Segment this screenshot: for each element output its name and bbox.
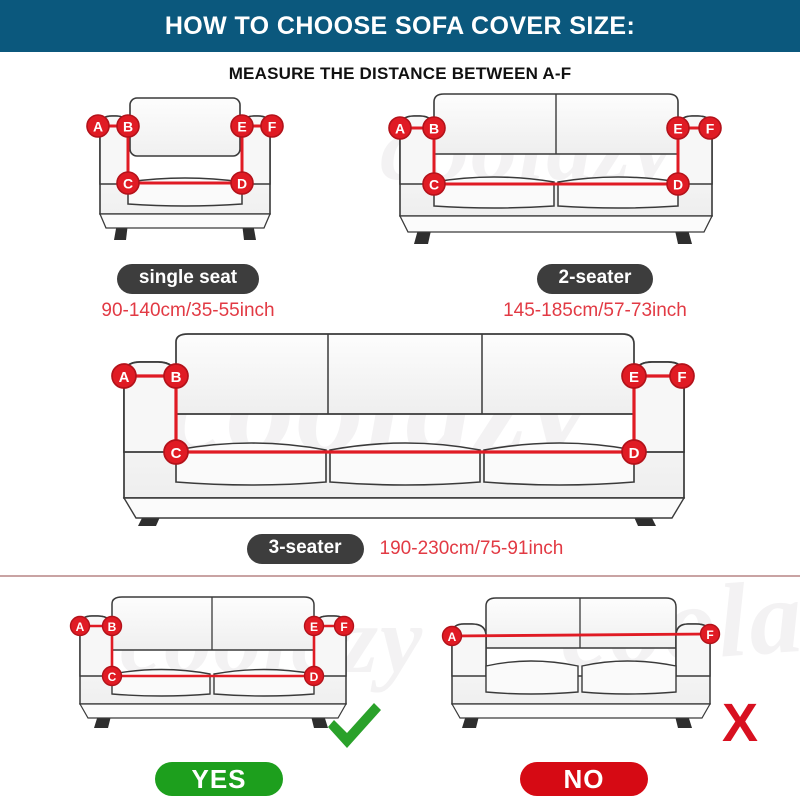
svg-text:A: A	[93, 119, 103, 135]
sofa-backrest	[486, 598, 676, 648]
marker-e: E	[667, 117, 689, 139]
sofa-seat-cushion	[112, 670, 210, 697]
diagram-three-seater: A B C D E	[100, 330, 710, 535]
svg-text:E: E	[310, 620, 318, 634]
sofa-seat-cushion	[484, 443, 634, 485]
svg-text:F: F	[677, 369, 686, 386]
marker-f: F	[670, 364, 694, 388]
x-mark-icon: X	[722, 696, 758, 750]
sofa-base	[80, 704, 346, 718]
marker-b: B	[117, 115, 139, 137]
marker-a: A	[87, 115, 109, 137]
two-seater-illustration: A B C D E	[382, 88, 732, 263]
svg-text:C: C	[171, 445, 182, 462]
caption-three-seater: 3-seater 190-230cm/75-91inch	[170, 534, 640, 564]
marker-a: A	[71, 617, 90, 636]
marker-d: D	[305, 667, 324, 686]
check-mark-icon	[324, 700, 384, 752]
sofa-seat-cushion	[330, 443, 480, 485]
diagram-yes-example: A B C D E	[62, 592, 362, 742]
marker-f: F	[701, 625, 720, 644]
marker-e: E	[231, 115, 253, 137]
svg-text:B: B	[108, 620, 117, 634]
marker-a: A	[389, 117, 411, 139]
sofa-seat-cushion	[214, 670, 314, 697]
section-divider	[0, 575, 800, 577]
svg-text:F: F	[340, 620, 347, 634]
svg-text:A: A	[448, 630, 457, 644]
marker-c: C	[103, 667, 122, 686]
marker-c: C	[164, 440, 188, 464]
svg-text:C: C	[123, 176, 133, 192]
caption-single-seat: single seat 90-140cm/35-55inch	[48, 264, 328, 322]
sofa-seat-cushion	[486, 661, 578, 694]
svg-text:F: F	[706, 628, 713, 642]
svg-text:B: B	[429, 121, 439, 137]
sofa-seat-cushion	[176, 443, 326, 485]
badge-three-seater: 3-seater	[247, 534, 364, 564]
svg-text:B: B	[123, 119, 133, 135]
no-sofa-illustration: A F	[430, 592, 730, 742]
marker-b: B	[423, 117, 445, 139]
header-bar: HOW TO CHOOSE SOFA COVER SIZE:	[0, 0, 800, 52]
marker-e: E	[622, 364, 646, 388]
marker-c: C	[423, 173, 445, 195]
subtitle: MEASURE THE DISTANCE BETWEEN A-F	[0, 64, 800, 84]
marker-f: F	[261, 115, 283, 137]
sofa-base	[124, 498, 684, 518]
svg-text:D: D	[673, 177, 683, 193]
svg-text:C: C	[108, 670, 117, 684]
sofa-base	[400, 216, 712, 232]
svg-text:B: B	[171, 369, 182, 386]
svg-text:F: F	[706, 121, 715, 137]
three-seater-illustration: A B C D E	[100, 330, 710, 535]
svg-text:E: E	[629, 369, 639, 386]
dimensions-three-seater: 190-230cm/75-91inch	[380, 538, 564, 560]
svg-text:E: E	[673, 121, 682, 137]
sofa-seat-cushion	[558, 177, 678, 208]
sofa-seat-cushion	[582, 661, 676, 694]
caption-two-seater: 2-seater 145-185cm/57-73inch	[430, 264, 760, 322]
dimensions-single-seat: 90-140cm/35-55inch	[48, 300, 328, 322]
marker-d: D	[231, 172, 253, 194]
sofa-backrest	[176, 334, 634, 414]
diagram-single-seat: A B C D E	[78, 88, 293, 263]
diagram-two-seater: A B C D E	[382, 88, 732, 263]
svg-text:D: D	[629, 445, 640, 462]
page-title: HOW TO CHOOSE SOFA COVER SIZE:	[165, 12, 635, 41]
marker-c: C	[117, 172, 139, 194]
svg-text:E: E	[237, 119, 246, 135]
svg-text:A: A	[119, 369, 130, 386]
marker-f: F	[699, 117, 721, 139]
infographic-page: HOW TO CHOOSE SOFA COVER SIZE: MEASURE T…	[0, 0, 800, 800]
diagram-no-example: A F	[430, 592, 730, 742]
marker-d: D	[622, 440, 646, 464]
measurement-lines	[452, 634, 710, 636]
svg-text:D: D	[310, 670, 319, 684]
svg-text:C: C	[429, 177, 439, 193]
sofa-backrest	[130, 98, 240, 156]
marker-a: A	[443, 627, 462, 646]
marker-b: B	[164, 364, 188, 388]
badge-two-seater: 2-seater	[537, 264, 654, 294]
yes-sofa-illustration: A B C D E	[62, 592, 362, 742]
marker-f: F	[335, 617, 354, 636]
sofa-base	[100, 214, 270, 228]
sofa-backrest	[112, 597, 314, 650]
sofa-seat-cushion	[434, 177, 554, 208]
svg-text:A: A	[76, 620, 85, 634]
svg-text:D: D	[237, 176, 247, 192]
dimensions-two-seater: 145-185cm/57-73inch	[430, 300, 760, 322]
single-seat-illustration: A B C D E	[78, 88, 293, 263]
marker-e: E	[305, 617, 324, 636]
svg-text:A: A	[395, 121, 405, 137]
svg-text:F: F	[268, 119, 277, 135]
verdict-no-badge: NO	[520, 762, 648, 796]
marker-b: B	[103, 617, 122, 636]
sofa-base	[452, 704, 710, 718]
badge-single-seat: single seat	[117, 264, 259, 294]
marker-d: D	[667, 173, 689, 195]
marker-a: A	[112, 364, 136, 388]
verdict-yes-badge: YES	[155, 762, 283, 796]
